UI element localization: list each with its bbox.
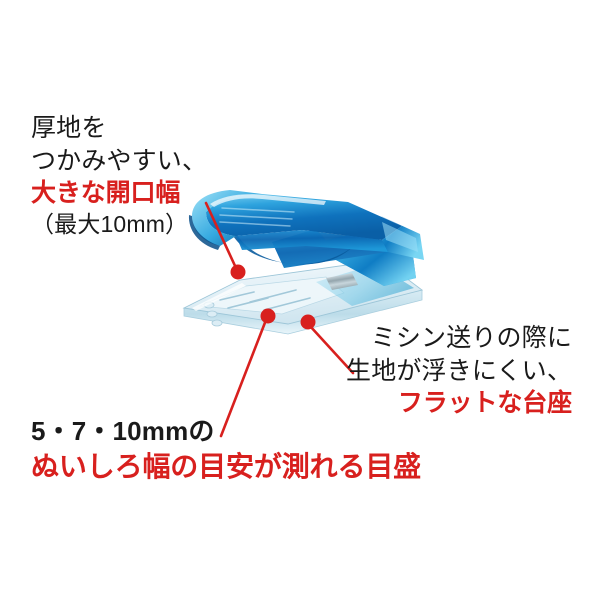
callout-seam-allowance-scale: 5・7・10mmの ぬいしろ幅の目安が測れる目盛	[31, 415, 421, 485]
product-image-sewing-clip	[176, 182, 426, 337]
callout-opening-width: 厚地を つかみやすい、 大きな開口幅 （最大10mm）	[31, 112, 207, 239]
callout-line-sub: 5・7・10mmの	[31, 415, 421, 449]
callout-line-accent: フラットな台座	[346, 387, 572, 420]
callout-line-sub: （最大10mm）	[31, 210, 207, 240]
screenshot-canvas: 厚地を つかみやすい、 大きな開口幅 （最大10mm） 5・7・10mmの ぬい…	[0, 0, 600, 600]
callout-line: 生地が浮きにくい、	[346, 355, 572, 388]
callout-line: 厚地を	[31, 112, 207, 145]
callout-flat-base: ミシン送りの際に 生地が浮きにくい、 フラットな台座	[346, 322, 572, 420]
callout-line-accent: 大きな開口幅	[31, 177, 207, 210]
callout-line-accent: ぬいしろ幅の目安が測れる目盛	[31, 449, 421, 485]
callout-line: つかみやすい、	[31, 145, 207, 178]
callout-line: ミシン送りの際に	[346, 322, 572, 355]
